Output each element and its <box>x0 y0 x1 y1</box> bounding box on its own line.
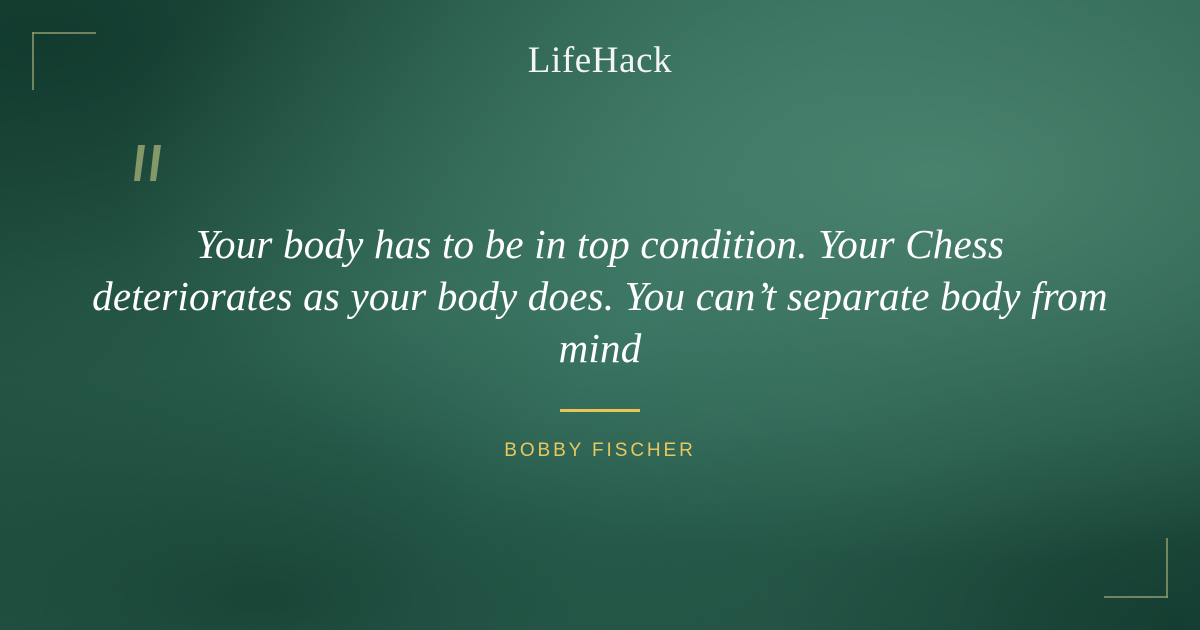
bracket-horizontal-line <box>32 32 96 34</box>
quote-mark-icon <box>124 141 180 189</box>
quote-card: LifeHack Your body has to be in top cond… <box>0 0 1200 630</box>
author-name: BOBBY FISCHER <box>0 440 1200 462</box>
brand-logo: LifeHack <box>0 40 1200 82</box>
corner-bracket-bottom-right-icon <box>1104 536 1168 598</box>
quote-line-2: deteriorates as your body does. You can’… <box>80 270 1120 322</box>
bracket-horizontal-line <box>1104 596 1168 598</box>
bracket-vertical-line <box>1166 538 1168 598</box>
quote-text: Your body has to be in top condition. Yo… <box>80 218 1120 374</box>
quote-line-3: mind <box>80 322 1120 374</box>
gold-divider <box>560 409 640 412</box>
quote-line-1: Your body has to be in top condition. Yo… <box>80 218 1120 270</box>
